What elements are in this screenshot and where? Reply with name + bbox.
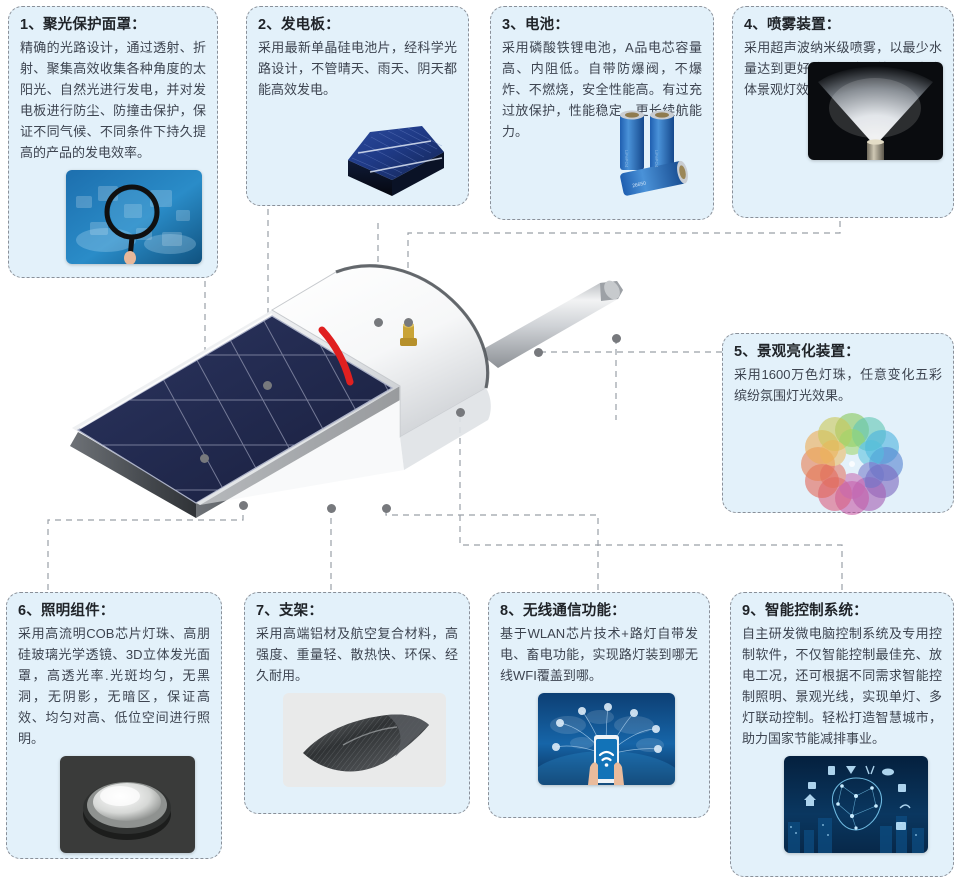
callout-dot-2 [263, 381, 272, 390]
feature-card-3[interactable]: 3、电池： 采用磷酸铁锂电池，A品电芯容量高、内阻低。自带防爆阀，不爆炸、不燃烧… [490, 6, 714, 220]
feature-card-4[interactable]: 4、喷雾装置： 采用超声波纳米级喷雾，以最少水量达到更好除尘、降温效果，立方体景… [732, 6, 954, 218]
callout-dot-1 [200, 454, 209, 463]
ultrasonic-mist-spray-photo [808, 62, 943, 160]
card-9-title: 9、智能控制系统： [742, 602, 942, 620]
callout-dot-3 [374, 318, 383, 327]
card-1-title: 1、聚光保护面罩： [20, 16, 206, 34]
card-6-body: 采用高流明COB芯片灯珠、高朋硅玻璃光学透镜、3D立体发光面罩，高透光率.光斑均… [18, 623, 210, 749]
card-4-title: 4、喷雾装置： [744, 16, 942, 34]
diagram-canvas: 1、聚光保护面罩： 精确的光路设计，通过透射、折射、聚集高效收集各种角度的太阳光… [0, 0, 960, 883]
wifi-phone-world-map-photo [538, 693, 675, 785]
lithium-battery-cells-photo: 26650 LiFePO4 LiFePO4 [598, 106, 706, 198]
card-8-body: 基于WLAN芯片技术+路灯自带发电、畜电功能，实现路灯装到哪无线WFI覆盖到哪。 [500, 623, 698, 686]
card-5-title: 5、景观亮化装置： [734, 343, 942, 361]
card-2-title: 2、发电板： [258, 16, 457, 34]
card-9-body: 自主研发微电脑控制系统及专用控制软件，不仅智能控制最佳充、放电工况，还可根据不同… [742, 623, 942, 749]
svg-text:LiFePO4: LiFePO4 [624, 150, 629, 168]
svg-text:LiFePO4: LiFePO4 [654, 150, 659, 168]
card-3-title: 3、电池： [502, 16, 702, 34]
card-7-body: 采用高端铝材及航空复合材料，高强度、重量轻、散热快、环保、经久耐用。 [256, 623, 458, 686]
card-6-title: 6、照明组件： [18, 602, 210, 620]
feature-card-6[interactable]: 6、照明组件： 采用高流明COB芯片灯珠、高朋硅玻璃光学透镜、3D立体发光面罩，… [6, 592, 222, 859]
feature-card-1[interactable]: 1、聚光保护面罩： 精确的光路设计，通过透射、折射、聚集高效收集各种角度的太阳光… [8, 6, 218, 278]
feature-card-9[interactable]: 9、智能控制系统： 自主研发微电脑控制系统及专用控制软件，不仅智能控制最佳充、放… [730, 592, 954, 877]
callout-dot-6 [239, 501, 248, 510]
card-7-title: 7、支架： [256, 602, 458, 620]
feature-card-5[interactable]: 5、景观亮化装置： 采用1600万色灯珠，任意变化五彩缤纷氛围灯光效果。 [722, 333, 954, 513]
card-8-title: 8、无线通信功能： [500, 602, 698, 620]
feature-card-8[interactable]: 8、无线通信功能： 基于WLAN芯片技术+路灯自带发电、畜电功能，实现路灯装到哪… [488, 592, 710, 818]
callout-dot-5b [612, 334, 621, 343]
callout-dot-7 [327, 504, 336, 513]
smart-city-ai-brain-photo [784, 756, 928, 853]
rgb-color-wheel-photo [796, 408, 908, 520]
callout-dot-5 [534, 348, 543, 357]
optical-lens-photo [60, 756, 195, 853]
callout-dot-4 [404, 318, 413, 327]
callout-dot-9 [456, 408, 465, 417]
magnifier-over-data-globe-photo [66, 170, 202, 264]
feature-card-2[interactable]: 2、发电板： 采用最新单晶硅电池片，经科学光路设计，不管晴天、雨天、阴天都能高效… [246, 6, 469, 206]
monocrystalline-solar-cell-photo [318, 98, 466, 203]
feature-card-7[interactable]: 7、支架： 采用高端铝材及航空复合材料，高强度、重量轻、散热快、环保、经久耐用。 [244, 592, 470, 814]
card-5-body: 采用1600万色灯珠，任意变化五彩缤纷氛围灯光效果。 [734, 364, 942, 406]
card-2-body: 采用最新单晶硅电池片，经科学光路设计，不管晴天、雨天、阴天都能高效发电。 [258, 37, 457, 100]
card-1-body: 精确的光路设计，通过透射、折射、聚集高效收集各种角度的太阳光、自然光进行发电，并… [20, 37, 206, 163]
carbon-fiber-bracket-photo [283, 693, 446, 787]
callout-dot-8 [382, 504, 391, 513]
